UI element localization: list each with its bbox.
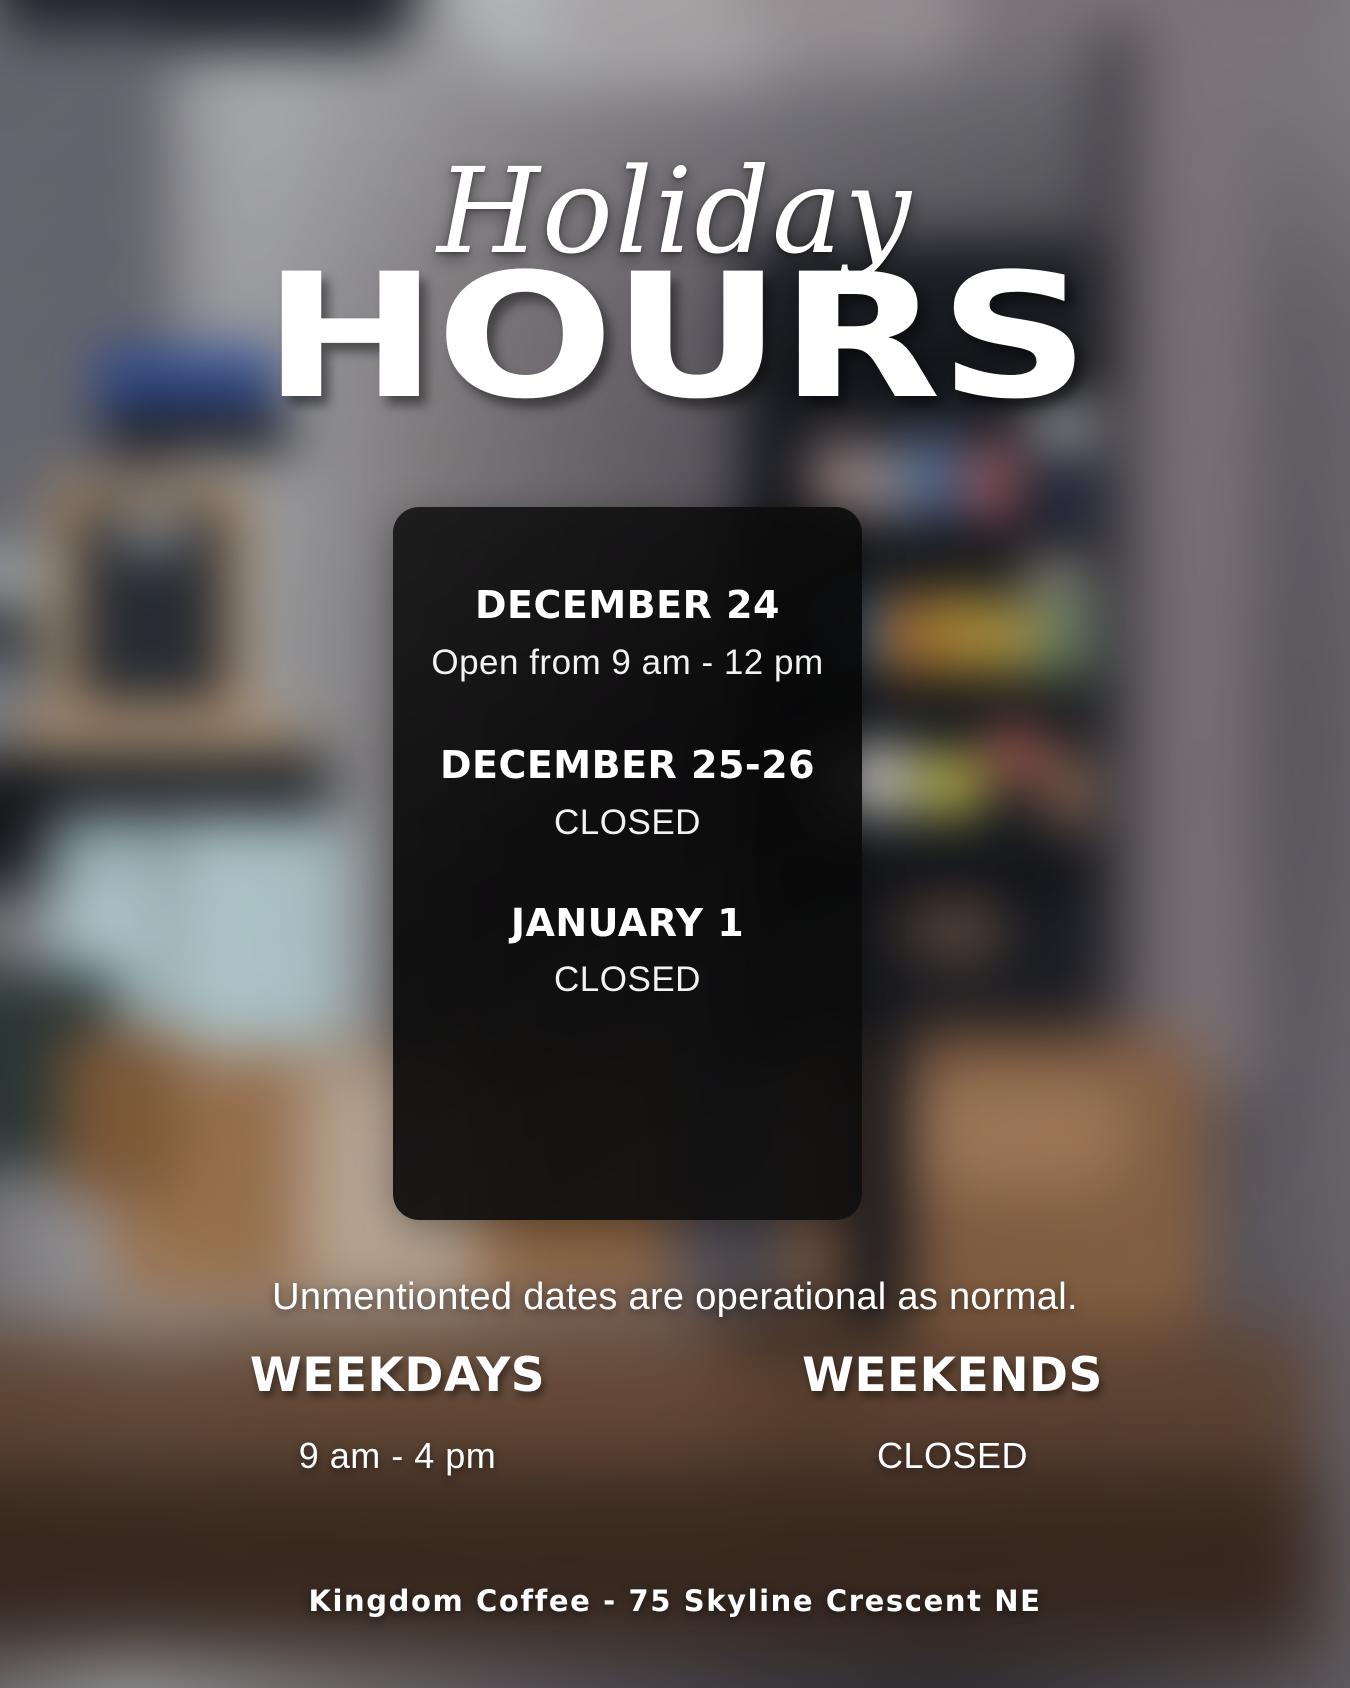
business-address: Kingdom Coffee - 75 Skyline Crescent NE [0, 1584, 1350, 1618]
page-title: HOURS [0, 258, 1350, 416]
regular-hours-grid: WEEKDAYS 9 am - 4 pm WEEKENDS CLOSED [120, 1348, 1230, 1477]
holiday-entry-date: DECEMBER 25-26 [419, 745, 836, 787]
weekends-value: CLOSED [675, 1435, 1230, 1477]
weekends-label: WEEKENDS [675, 1348, 1230, 1403]
regular-hours-column-weekends: WEEKENDS CLOSED [675, 1348, 1230, 1477]
holiday-hours-poster: Holiday HOURS DECEMBER 24 Open from 9 am… [0, 0, 1350, 1688]
operational-note: Unmentionted dates are operational as no… [0, 1276, 1350, 1319]
holiday-entry-detail: Open from 9 am - 12 pm [419, 643, 836, 683]
holiday-entry-detail: CLOSED [419, 960, 836, 1000]
weekdays-value: 9 am - 4 pm [120, 1435, 675, 1477]
holiday-entry-date: JANUARY 1 [419, 903, 836, 945]
holiday-entry-date: DECEMBER 24 [419, 585, 836, 627]
regular-hours-column-weekdays: WEEKDAYS 9 am - 4 pm [120, 1348, 675, 1477]
holiday-entry: DECEMBER 25-26 CLOSED [419, 745, 836, 843]
holiday-entry: DECEMBER 24 Open from 9 am - 12 pm [419, 585, 836, 683]
holiday-entry-detail: CLOSED [419, 803, 836, 843]
weekdays-label: WEEKDAYS [120, 1348, 675, 1403]
holiday-dates-card: DECEMBER 24 Open from 9 am - 12 pm DECEM… [393, 507, 862, 1220]
holiday-entry: JANUARY 1 CLOSED [419, 903, 836, 1001]
